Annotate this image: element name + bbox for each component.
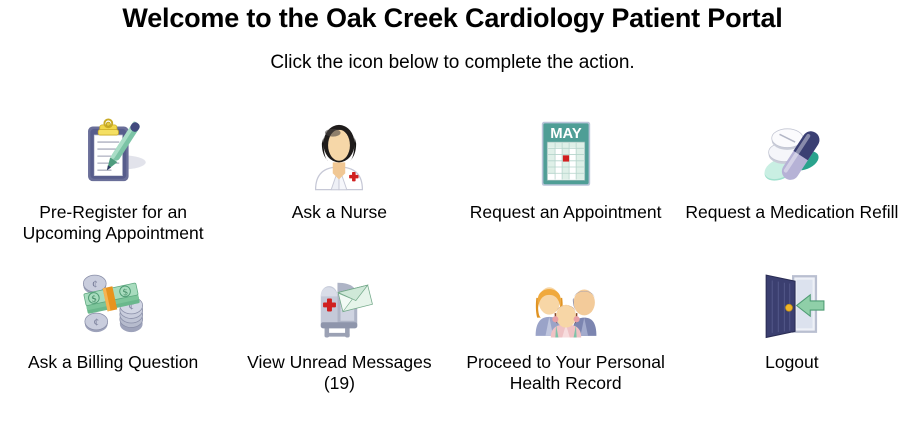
tile-unread-messages[interactable]: View Unread Messages (19) bbox=[226, 266, 452, 418]
tile-personal-health-record[interactable]: Proceed to Your Personal Health Record bbox=[453, 266, 679, 418]
tile-medication-refill[interactable]: Request a Medication Refill bbox=[679, 114, 905, 266]
action-tile-grid: Pre-Register for an Upcoming Appointment… bbox=[0, 114, 905, 418]
family-people-icon[interactable] bbox=[527, 266, 605, 342]
tile-label-logout: Logout bbox=[765, 352, 819, 373]
tile-label-ask-nurse: Ask a Nurse bbox=[292, 202, 387, 223]
clipboard-pen-icon[interactable] bbox=[74, 114, 152, 192]
calendar-month-label: MAY bbox=[550, 127, 582, 143]
calendar-icon[interactable]: MAY bbox=[527, 114, 605, 192]
money-icon[interactable]: ¢ ¢ ¢ $ bbox=[74, 266, 152, 342]
mailbox-icon[interactable] bbox=[300, 266, 378, 342]
svg-text:¢: ¢ bbox=[92, 280, 97, 291]
tile-label-pre-register: Pre-Register for an Upcoming Appointment bbox=[6, 202, 221, 243]
page-instruction: Click the icon below to complete the act… bbox=[0, 52, 905, 74]
nurse-icon[interactable] bbox=[300, 114, 378, 192]
tile-label-billing-question: Ask a Billing Question bbox=[28, 352, 198, 373]
pills-icon[interactable] bbox=[753, 114, 831, 192]
page-title: Welcome to the Oak Creek Cardiology Pati… bbox=[0, 4, 905, 32]
coin-bottom-left: ¢ bbox=[85, 313, 108, 332]
calendar-marked-day bbox=[563, 156, 569, 162]
tile-ask-nurse[interactable]: Ask a Nurse bbox=[226, 114, 452, 266]
svg-text:¢: ¢ bbox=[94, 318, 99, 329]
tile-label-personal-health-record: Proceed to Your Personal Health Record bbox=[458, 352, 673, 393]
tile-label-medication-refill: Request a Medication Refill bbox=[685, 202, 898, 223]
tile-label-unread-messages: View Unread Messages (19) bbox=[232, 352, 447, 393]
tile-pre-register[interactable]: Pre-Register for an Upcoming Appointment bbox=[0, 114, 226, 266]
tile-label-request-appointment: Request an Appointment bbox=[470, 202, 662, 223]
tile-billing-question[interactable]: ¢ ¢ ¢ $ bbox=[0, 266, 226, 418]
exit-door-icon[interactable] bbox=[753, 266, 831, 342]
tile-logout[interactable]: Logout bbox=[679, 266, 905, 418]
tile-request-appointment[interactable]: MAY Request an Appointment bbox=[453, 114, 679, 266]
